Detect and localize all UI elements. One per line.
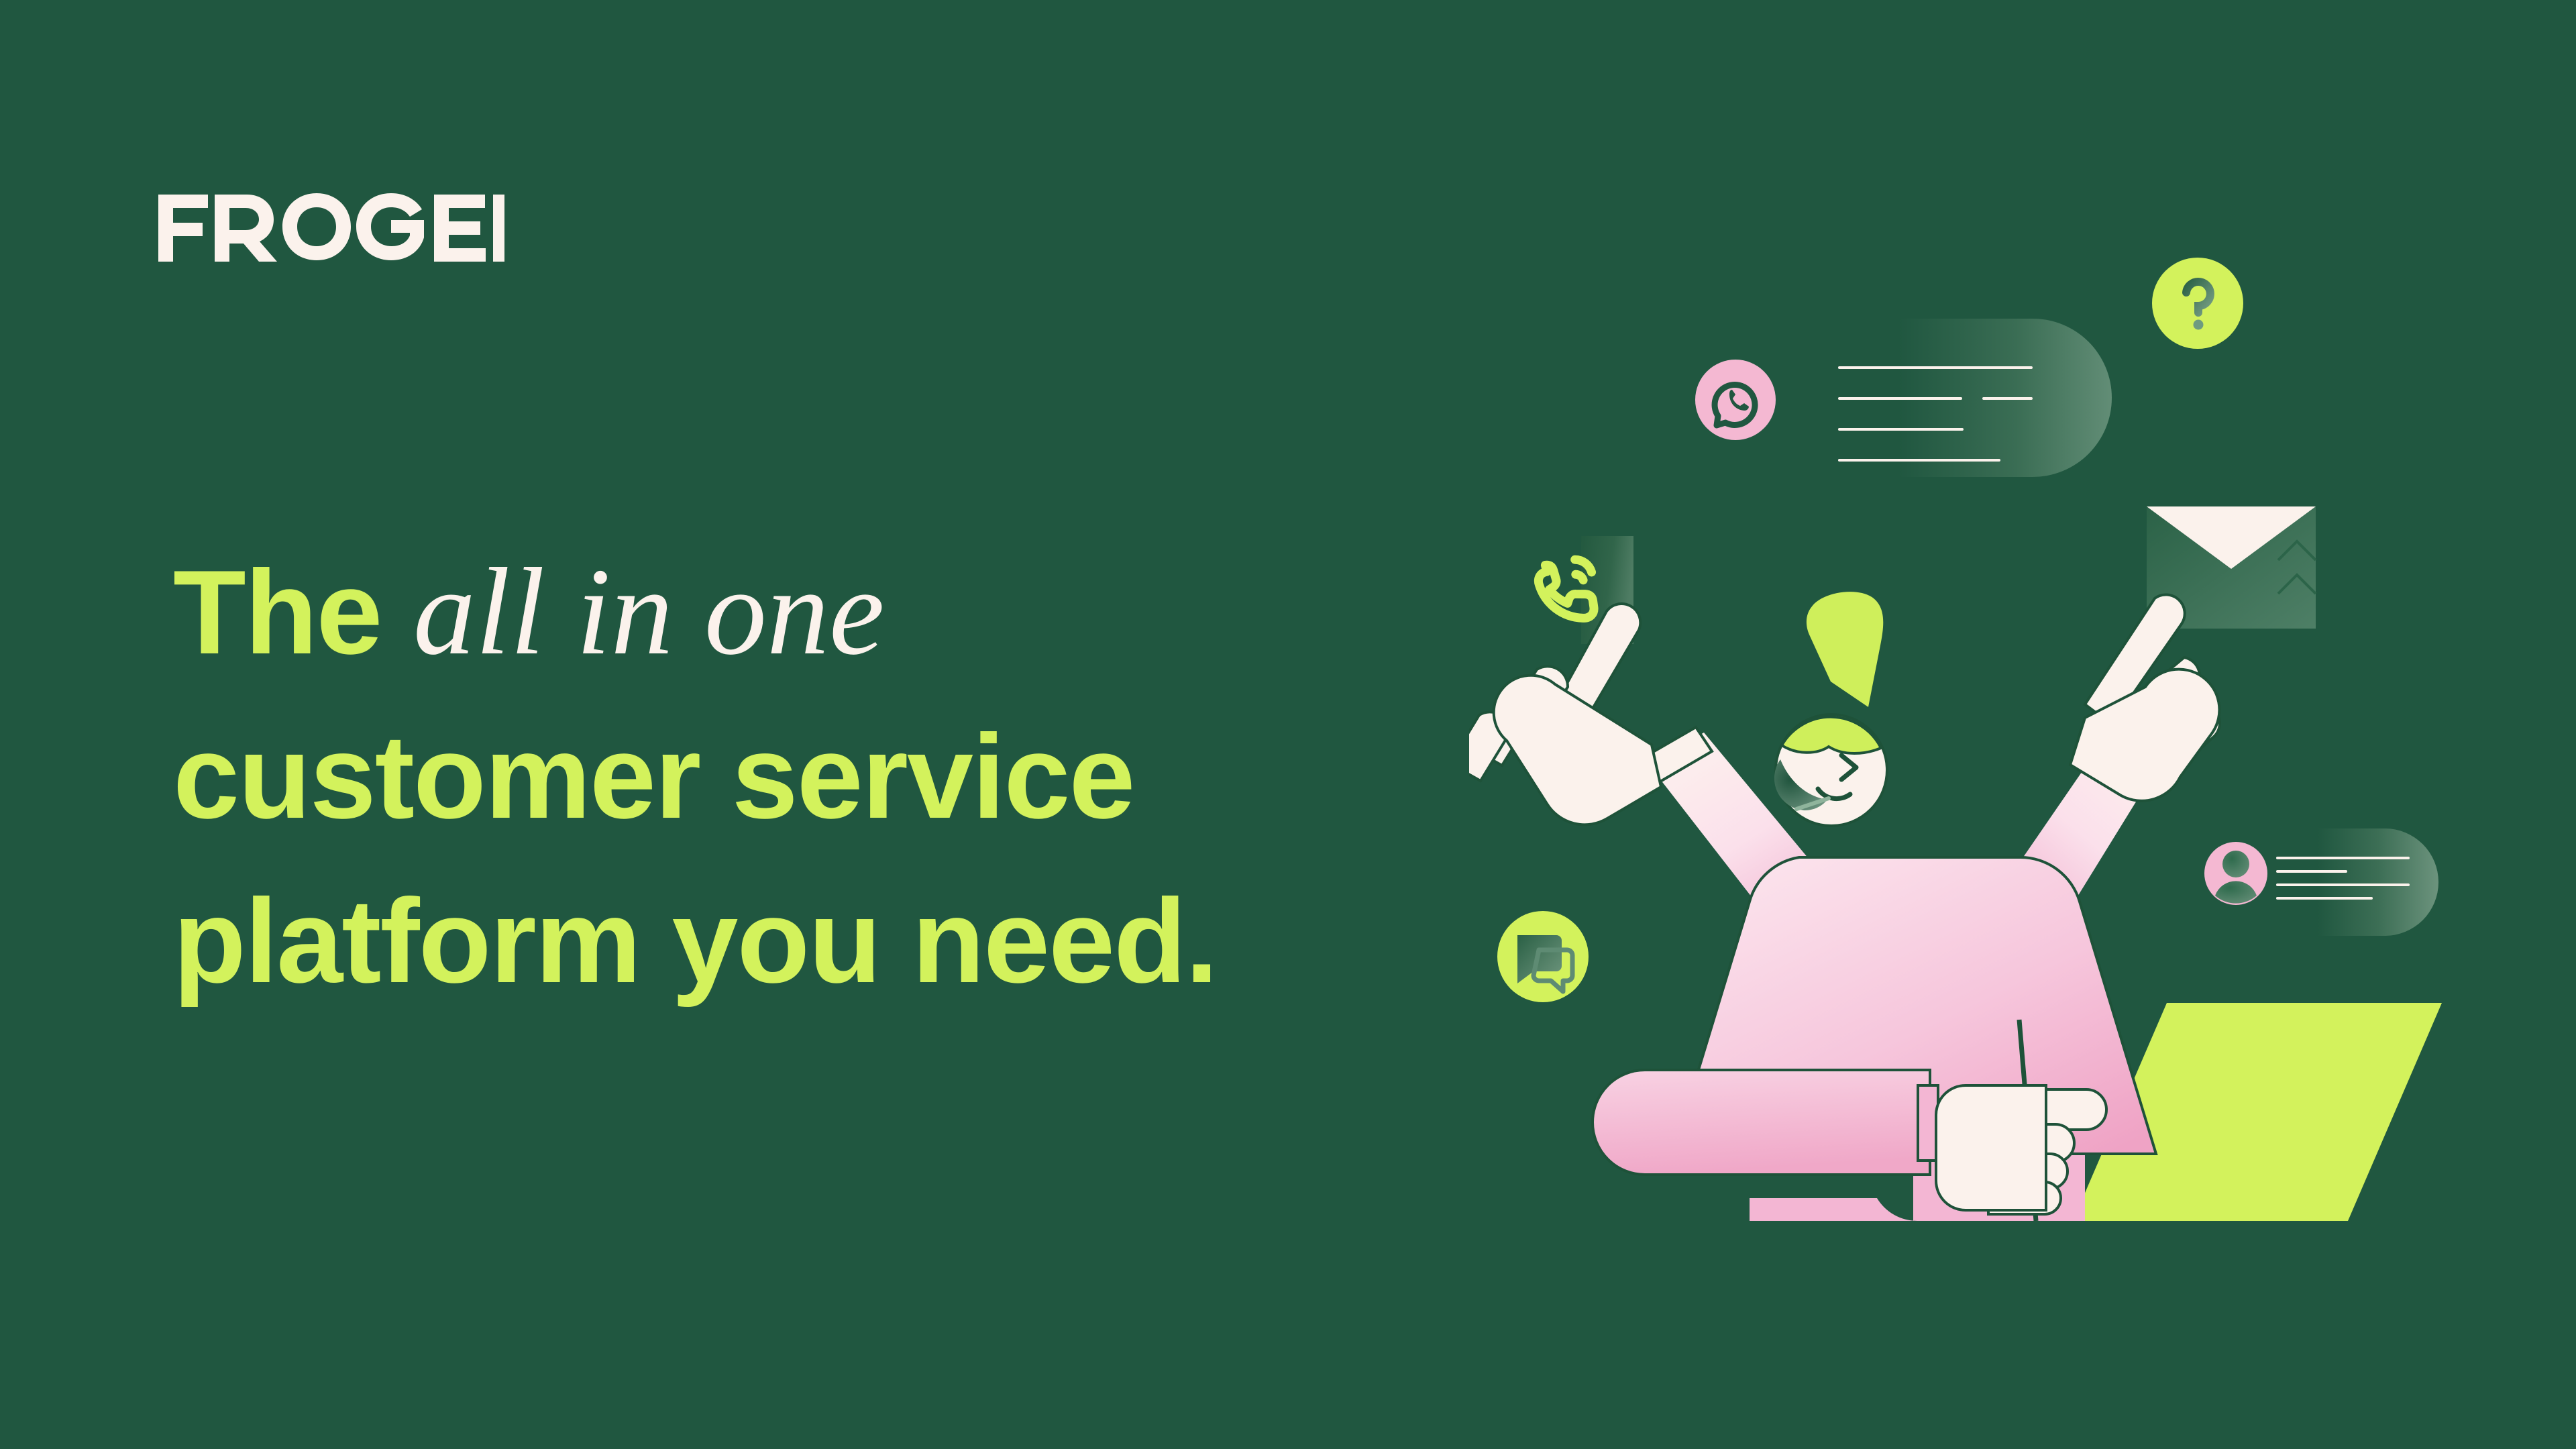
hero-banner: The all in one customer service platform… [0, 0, 2576, 1449]
character-body [1593, 857, 2156, 1221]
hair [1782, 717, 1881, 753]
character-head [1774, 714, 1887, 826]
question-mark-dot [2194, 320, 2204, 330]
headline-line-3: platform you need. [173, 859, 1515, 1023]
contact-message-card[interactable] [2204, 828, 2438, 936]
exclamation-mark [1807, 592, 1883, 707]
headline-line-1: The all in one [173, 530, 1515, 694]
chat-bubbles-badge[interactable] [1497, 911, 1589, 1002]
phone-call-icon [1536, 557, 1598, 624]
pointing-hand-palm [1936, 1085, 2046, 1210]
user-avatar-icon [2204, 842, 2267, 905]
headline-line-2: customer service [173, 694, 1515, 859]
left-hand-palm [1494, 676, 1661, 825]
contact-card-body [2318, 828, 2438, 936]
hero-illustration [1469, 255, 2489, 1221]
headline-emphasis: all in one [413, 543, 885, 681]
page-title: The all in one customer service platform… [173, 530, 1515, 1023]
whatsapp-message-card[interactable] [1695, 319, 2112, 477]
forearm [1593, 1070, 1930, 1175]
froged-logo[interactable] [156, 192, 504, 262]
question-badge[interactable] [2152, 258, 2243, 349]
headline-prefix: The [173, 545, 413, 679]
whatsapp-avatar-bg [1695, 360, 1776, 440]
